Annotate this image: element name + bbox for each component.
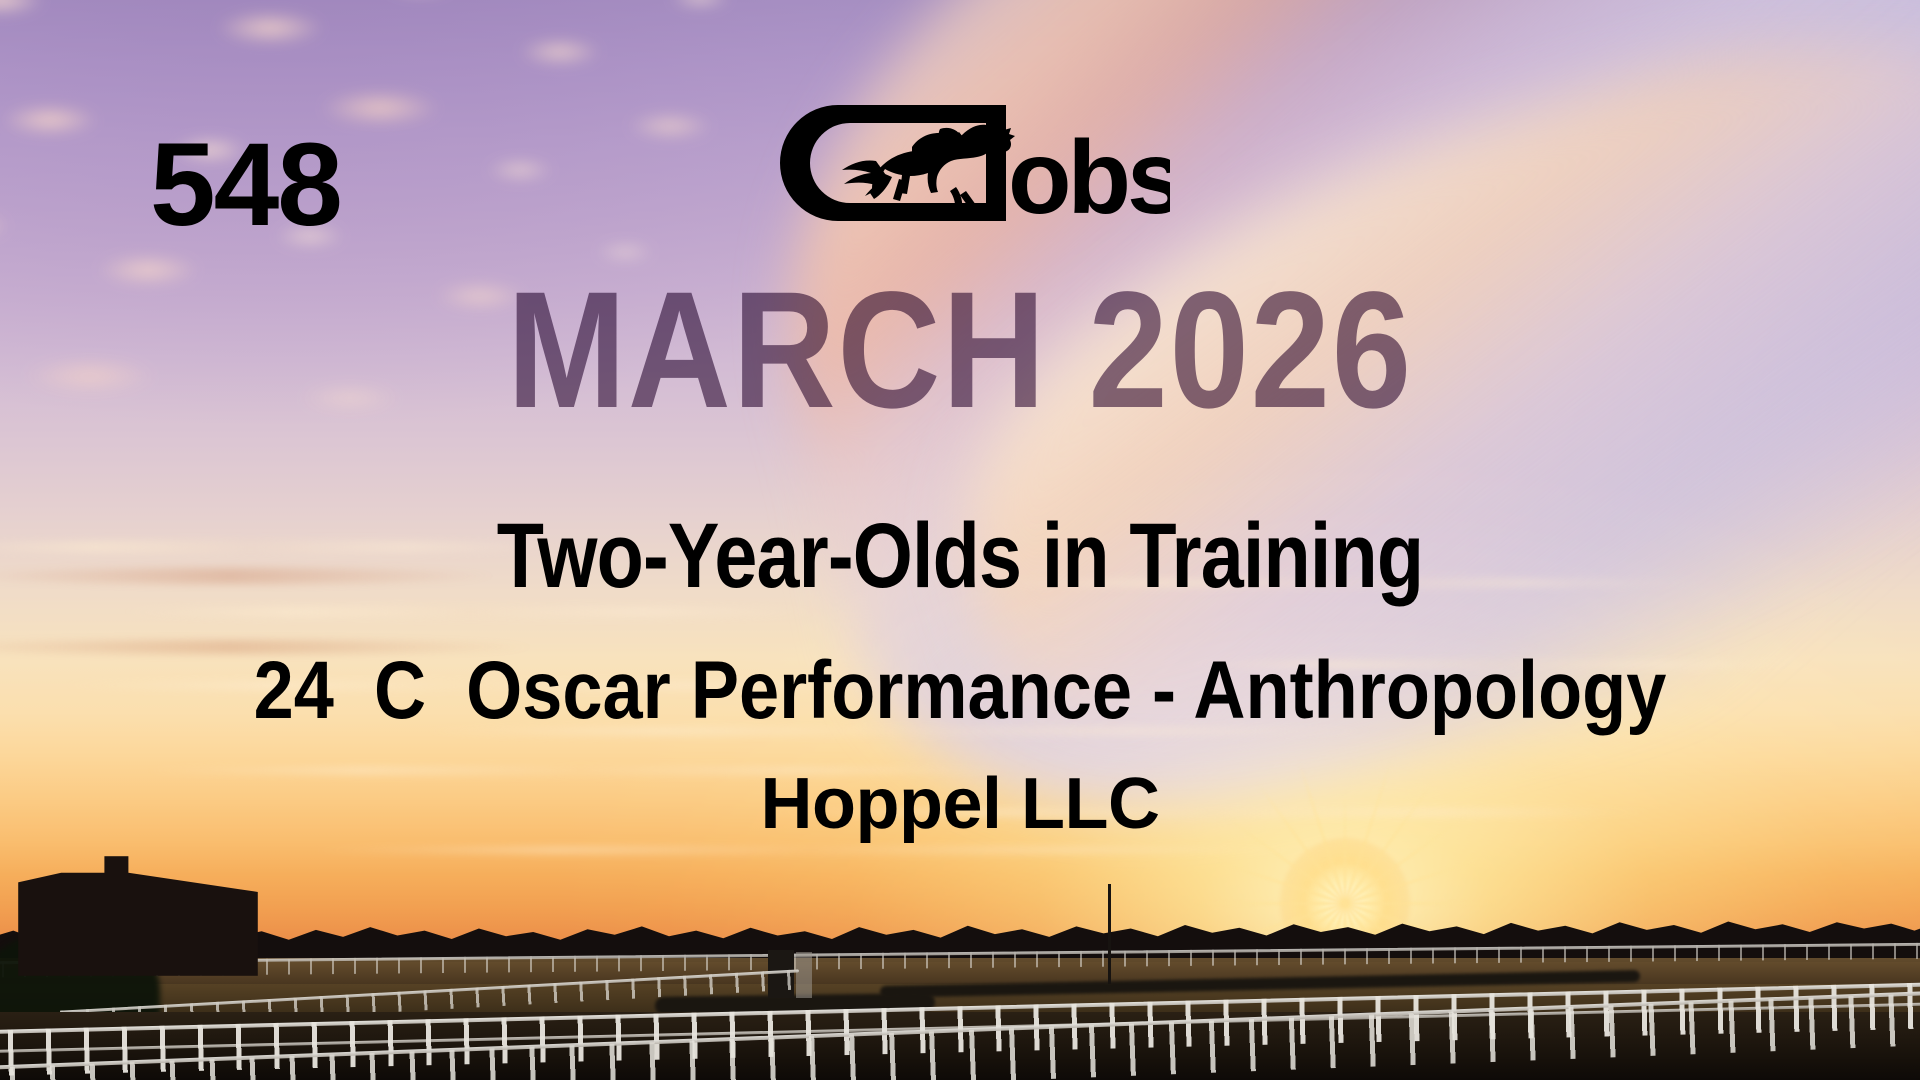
- sale-hip-card: 548: [0, 0, 1920, 1080]
- sale-month-year: MARCH 2026: [134, 268, 1785, 434]
- horse-pedigree-line: 24 C Oscar Performance - Anthropology: [115, 650, 1805, 732]
- consignor-name: Hoppel LLC: [0, 768, 1920, 840]
- hip-number: 548: [150, 126, 341, 244]
- flag-pole: [1108, 884, 1111, 984]
- obs-logo: obs: [780, 95, 1170, 240]
- svg-text:obs: obs: [1008, 120, 1170, 236]
- sale-type-title: Two-Year-Olds in Training: [154, 510, 1767, 602]
